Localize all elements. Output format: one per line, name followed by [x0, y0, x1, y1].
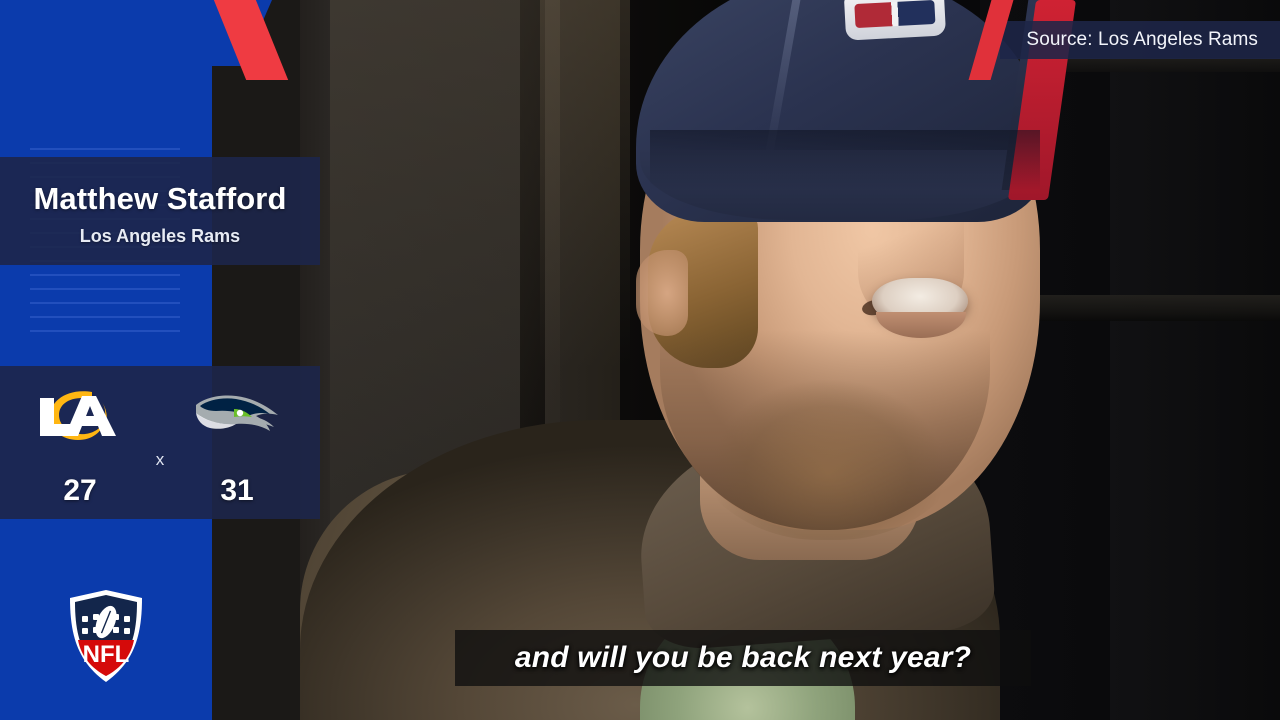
nfl-shield-icon: NFL — [64, 588, 148, 684]
source-banner: Source: Los Angeles Rams — [1000, 21, 1280, 59]
subtitle-text: and will you be back next year? — [515, 641, 971, 675]
cap-brim-shadow — [650, 130, 1040, 190]
away-team-score: 31 — [182, 474, 292, 508]
source-banner-label: Source: Los Angeles Rams — [1026, 29, 1258, 51]
rams-la-logo-icon — [25, 380, 135, 450]
cap-logo-icon — [844, 0, 946, 41]
nfl-shield-label: NFL — [83, 641, 130, 668]
scorebug-separator: x — [0, 450, 320, 470]
subtitle-bar: and will you be back next year? — [455, 630, 1031, 686]
scorebug-logos — [0, 380, 320, 450]
broadcast-frame: Matthew Stafford Los Angeles Rams — [0, 0, 1280, 720]
home-team-score: 27 — [25, 474, 135, 508]
person-team: Los Angeles Rams — [0, 226, 320, 247]
seahawks-logo-icon — [182, 380, 292, 450]
person-name: Matthew Stafford — [0, 183, 320, 214]
